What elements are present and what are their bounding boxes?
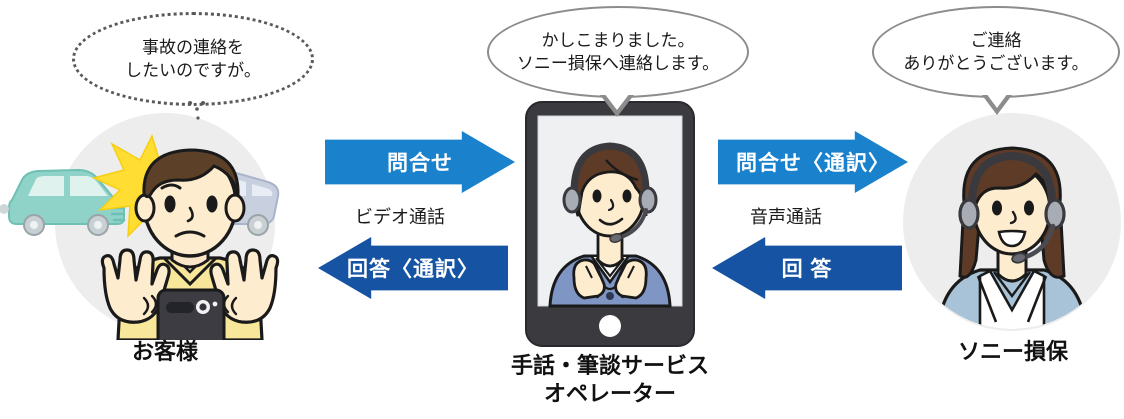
caption-operator-line2: オペレーター (460, 380, 760, 408)
speech-bubble-sonyrep: ご連絡 ありがとうございます。 (872, 6, 1120, 98)
caption-operator-line1: 手話・筆談サービス (460, 352, 760, 380)
caption-sonyrep: ソニー損保 (928, 338, 1098, 366)
arrow-inquiry-interpreted-label: 問合せ〈通訳〉 (736, 147, 890, 177)
bubble-sonyrep-line2: ありがとうございます。 (903, 52, 1088, 75)
label-voice-call: 音声通話 (750, 203, 822, 229)
bubble-customer-line2: したいのですが。 (125, 59, 261, 82)
arrow-answer-sonyrep-to-operator: 回 答 (712, 237, 902, 299)
bubble-operator-line1: かしこまりました。 (542, 29, 695, 52)
sonyrep-illustration (898, 110, 1124, 334)
caption-operator: 手話・筆談サービス オペレーター (460, 352, 760, 408)
operator-tablet-illustration (512, 100, 708, 348)
arrow-answer-operator-to-customer: 回答〈通訳〉 (318, 237, 508, 299)
arrow-inquiry-interpreted-operator-to-sonyrep: 問合せ〈通訳〉 (718, 131, 908, 193)
arrow-answer-label: 回答〈通訳〉 (347, 253, 479, 283)
label-video-call: ビデオ通話 (355, 203, 445, 229)
speech-bubble-customer-tail (186, 100, 212, 126)
arrow-inquiry-customer-to-operator: 問合せ (325, 131, 515, 193)
diagram-canvas: 問合せ ビデオ通話 回答〈通訳〉 問合せ〈通訳〉 音声通話 回 答 事故の連絡を… (0, 0, 1124, 419)
speech-bubble-operator-tail-inner (604, 93, 630, 110)
arrow-inquiry-label: 問合せ (387, 147, 453, 177)
speech-bubble-operator: かしこまりました。 ソニー損保へ連絡します。 (487, 6, 749, 98)
caption-customer: お客様 (95, 338, 235, 366)
customer-illustration (0, 108, 300, 340)
speech-bubble-customer: 事故の連絡を したいのですが。 (72, 12, 314, 106)
bubble-sonyrep-line1: ご連絡 (971, 29, 1022, 52)
arrow-answer-reply-label: 回 答 (782, 253, 833, 283)
sonyrep-person-icon (938, 148, 1086, 334)
bubble-customer-line1: 事故の連絡を (142, 36, 244, 59)
speech-bubble-sonyrep-tail-inner (986, 93, 1008, 108)
bubble-operator-line2: ソニー損保へ連絡します。 (517, 52, 719, 75)
